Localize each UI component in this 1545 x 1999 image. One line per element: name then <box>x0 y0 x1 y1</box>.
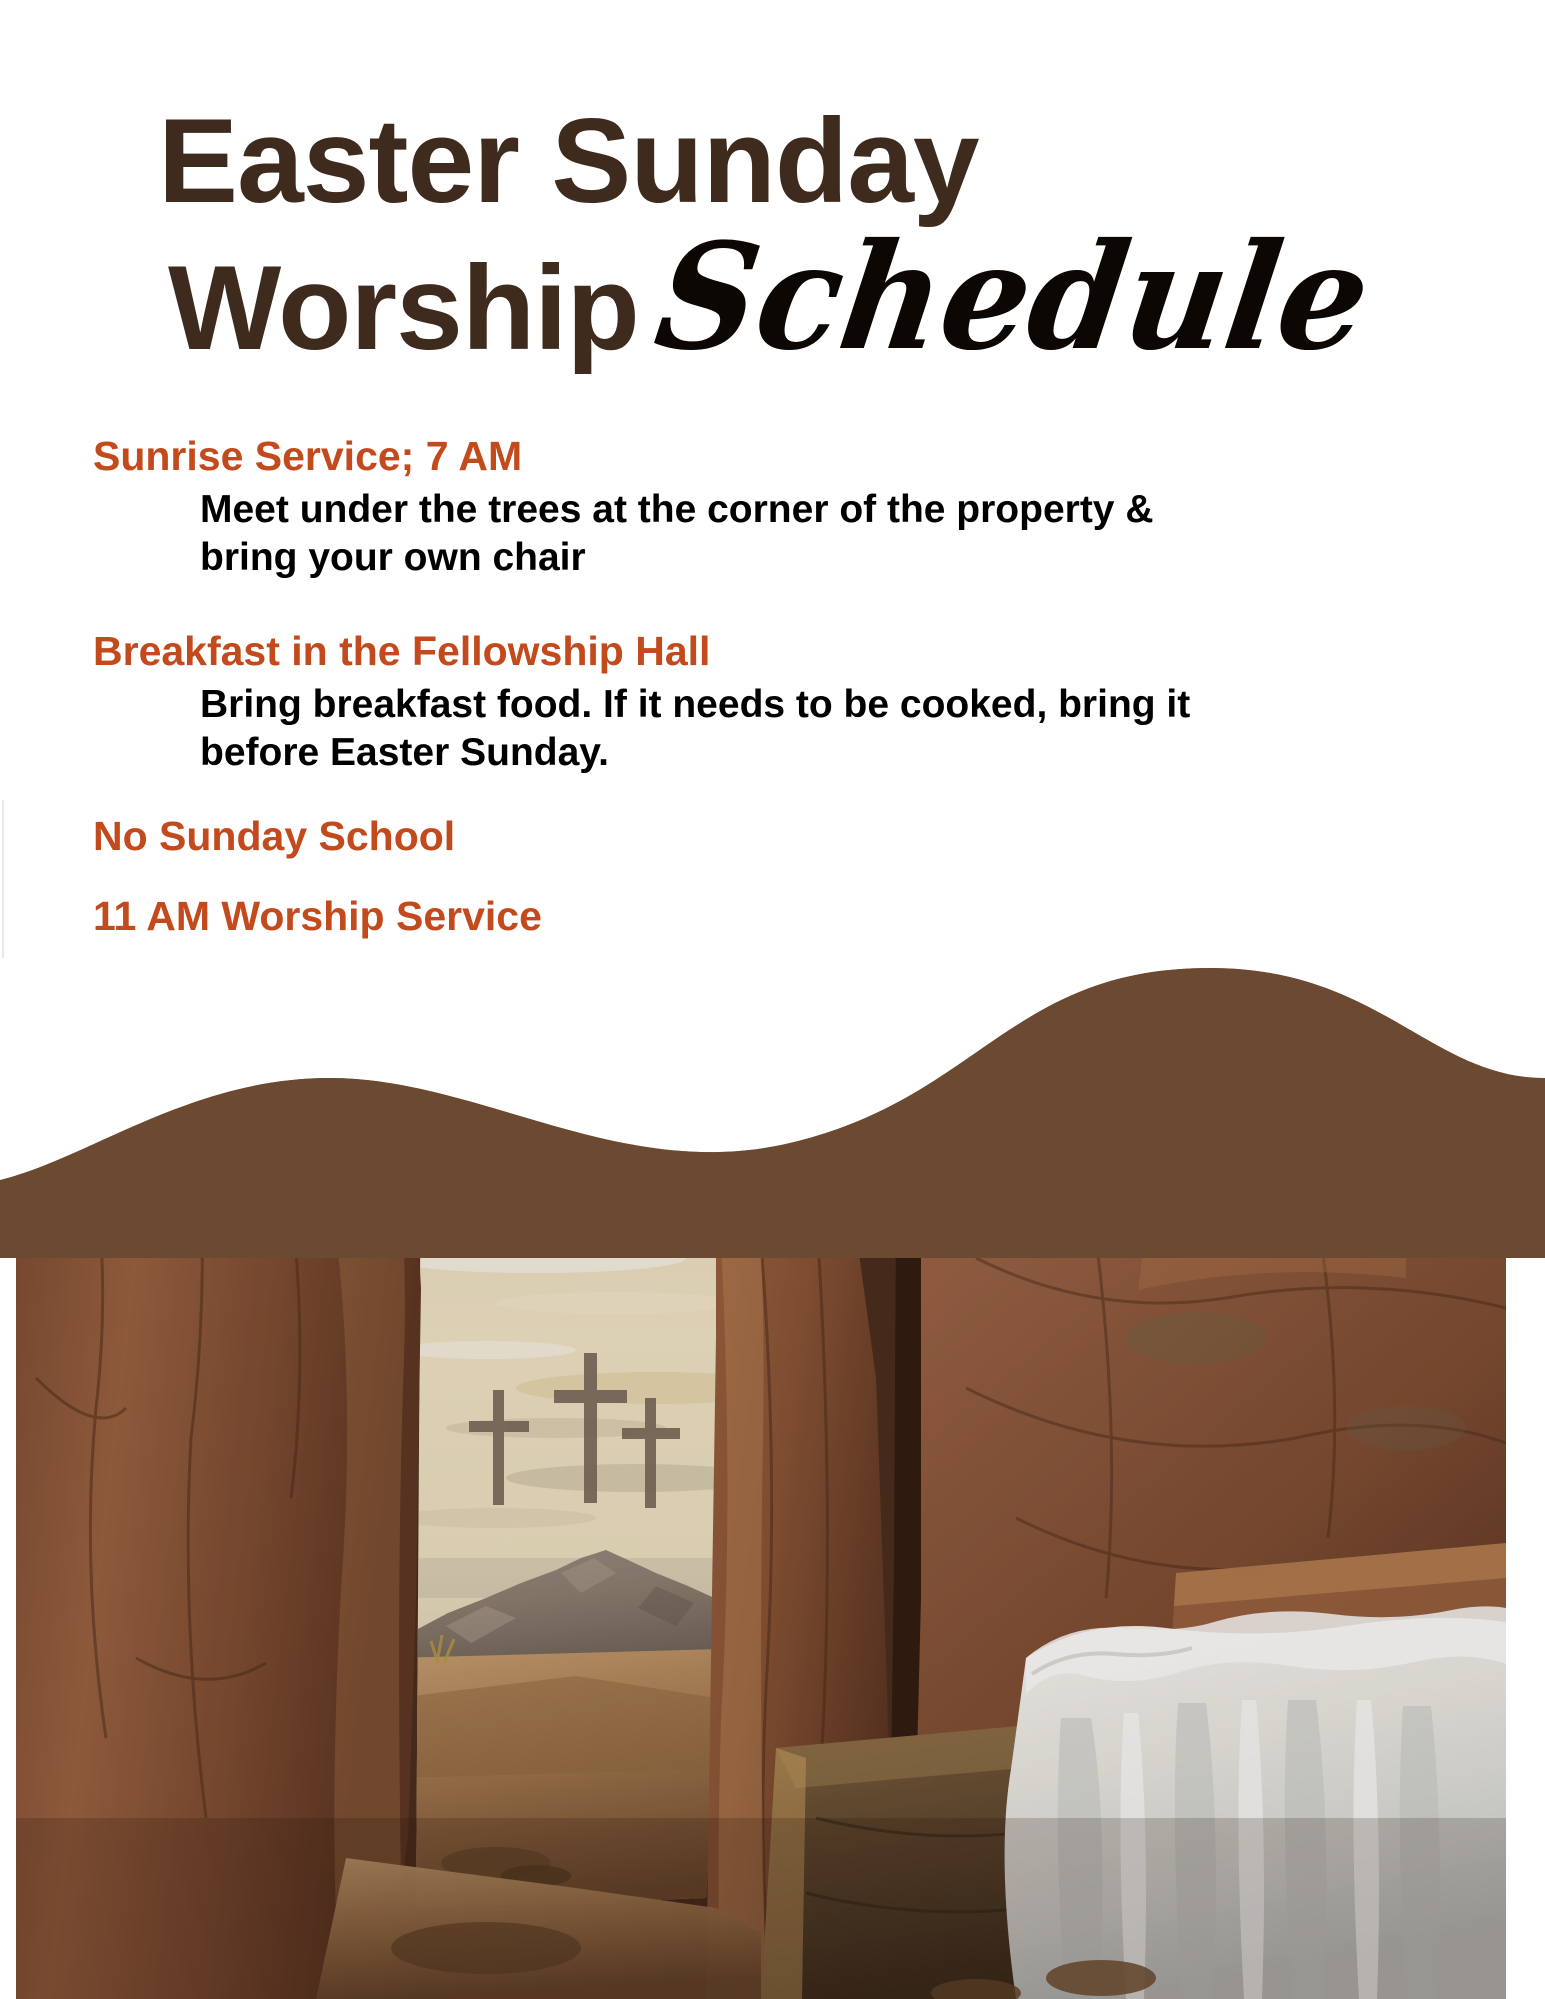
schedule-detail-text: Bring breakfast food. If it needs to be … <box>200 681 1200 777</box>
schedule-heading: Sunrise Service; 7 AM <box>93 432 522 480</box>
easter-sunday-flyer: Easter Sunday WorshipSchedule Sunrise Se… <box>0 0 1545 1999</box>
title-line-easter-sunday: Easter Sunday <box>158 96 979 226</box>
schedule-detail-text: Meet under the trees at the corner of th… <box>200 486 1200 582</box>
poster-title-block: Easter Sunday WorshipSchedule <box>0 96 1545 386</box>
wave-white-mask <box>0 958 1545 1258</box>
title-line-worship-schedule: WorshipSchedule <box>168 236 1358 373</box>
schedule-heading: Breakfast in the Fellowship Hall <box>93 627 710 675</box>
schedule-heading: 11 AM Worship Service <box>93 892 542 940</box>
title-word-schedule-script: Schedule <box>649 228 1377 366</box>
schedule-heading: No Sunday School <box>93 812 455 860</box>
title-word-worship: Worship <box>168 243 639 373</box>
tomb-photo-section <box>0 958 1545 1999</box>
